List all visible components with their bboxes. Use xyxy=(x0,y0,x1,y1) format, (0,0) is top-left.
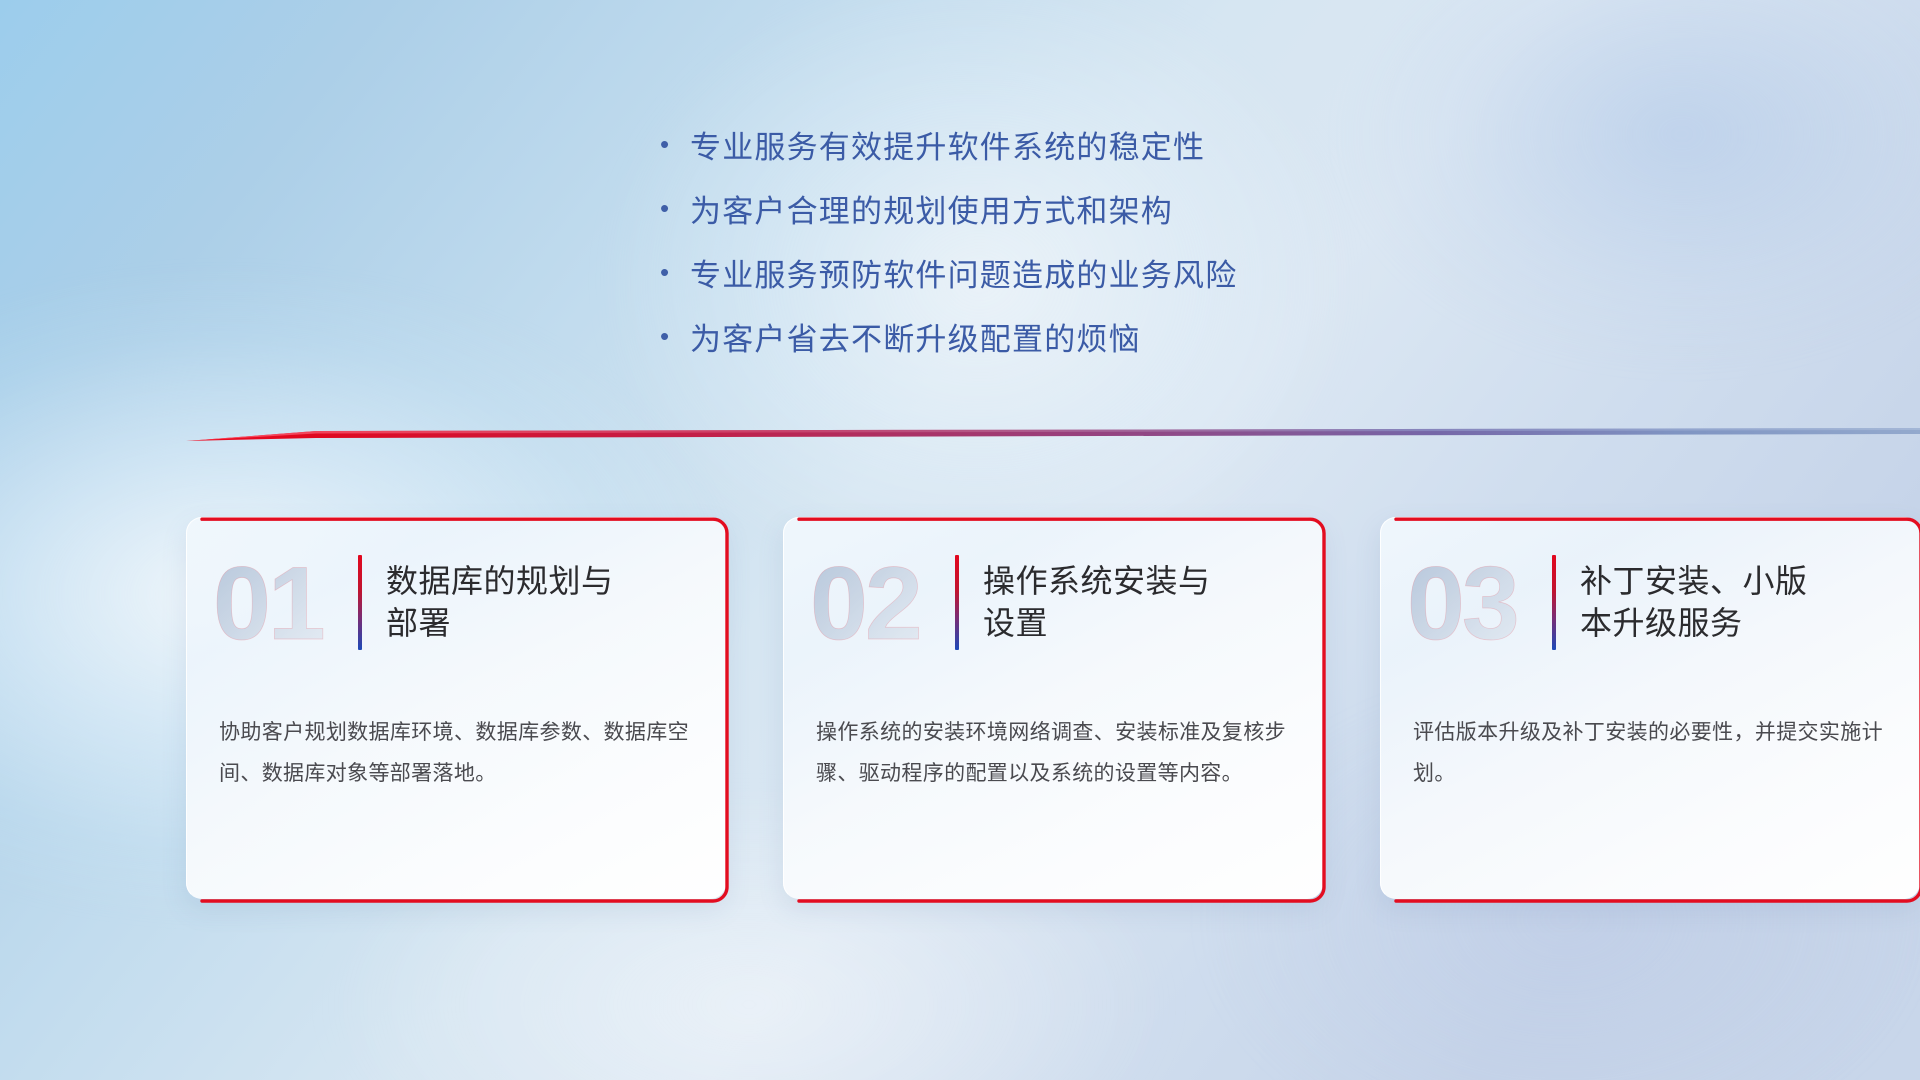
card-header: 01 01 数据库的规划与部署 xyxy=(186,539,726,665)
list-item: • 专业服务有效提升软件系统的稳定性 xyxy=(660,112,1237,176)
card-description: 协助客户规划数据库环境、数据库参数、数据库空间、数据库对象等部署落地。 xyxy=(219,713,689,795)
bullet-text: 专业服务有效提升软件系统的稳定性 xyxy=(690,122,1205,167)
service-card[interactable]: 03 03 补丁安装、小版本升级服务 评估版本升级及补丁安装的必要性，并提交实施… xyxy=(1380,517,1920,899)
svg-text:03: 03 xyxy=(1407,546,1517,661)
bullet-dot-icon: • xyxy=(660,323,690,349)
list-item: • 为客户省去不断升级配置的烦恼 xyxy=(660,304,1237,368)
card-accent-bar xyxy=(1552,555,1556,650)
bullet-text: 为客户合理的规划使用方式和架构 xyxy=(690,186,1173,231)
bullet-text: 专业服务预防软件问题造成的业务风险 xyxy=(690,250,1237,295)
card-accent-bar xyxy=(955,555,959,650)
bullet-text: 为客户省去不断升级配置的烦恼 xyxy=(690,314,1141,359)
bullet-dot-icon: • xyxy=(660,259,690,285)
card-description: 操作系统的安装环境网络调查、安装标准及复核步骤、驱动程序的配置以及系统的设置等内… xyxy=(816,713,1286,795)
card-number-watermark: 03 03 xyxy=(1406,543,1538,661)
card-title: 补丁安装、小版本升级服务 xyxy=(1580,560,1838,644)
service-card-row: 01 01 数据库的规划与部署 协助客户规划数据库环境、数据库参数、数据库空间、… xyxy=(186,517,1920,909)
card-header: 03 03 补丁安装、小版本升级服务 xyxy=(1380,539,1920,665)
benefits-bullet-list: • 专业服务有效提升软件系统的稳定性 • 为客户合理的规划使用方式和架构 • 专… xyxy=(660,112,1237,368)
bullet-dot-icon: • xyxy=(660,195,690,221)
card-description: 评估版本升级及补丁安装的必要性，并提交实施计划。 xyxy=(1413,713,1883,795)
card-accent-bar xyxy=(358,555,362,650)
list-item: • 为客户合理的规划使用方式和架构 xyxy=(660,176,1237,240)
card-header: 02 02 操作系统安装与设置 xyxy=(783,539,1323,665)
list-item: • 专业服务预防软件问题造成的业务风险 xyxy=(660,240,1237,304)
card-title: 数据库的规划与部署 xyxy=(386,560,644,644)
service-card[interactable]: 02 02 操作系统安装与设置 操作系统的安装环境网络调查、安装标准及复核步骤、… xyxy=(783,517,1323,899)
slide-stage: • 专业服务有效提升软件系统的稳定性 • 为客户合理的规划使用方式和架构 • 专… xyxy=(0,0,1920,1080)
service-card[interactable]: 01 01 数据库的规划与部署 协助客户规划数据库环境、数据库参数、数据库空间、… xyxy=(186,517,726,899)
card-number-watermark: 02 02 xyxy=(809,543,941,661)
bullet-dot-icon: • xyxy=(660,131,690,157)
svg-text:02: 02 xyxy=(810,546,920,661)
svg-text:01: 01 xyxy=(213,546,323,661)
section-divider xyxy=(186,414,1920,448)
card-title: 操作系统安装与设置 xyxy=(983,560,1241,644)
card-number-watermark: 01 01 xyxy=(212,543,344,661)
